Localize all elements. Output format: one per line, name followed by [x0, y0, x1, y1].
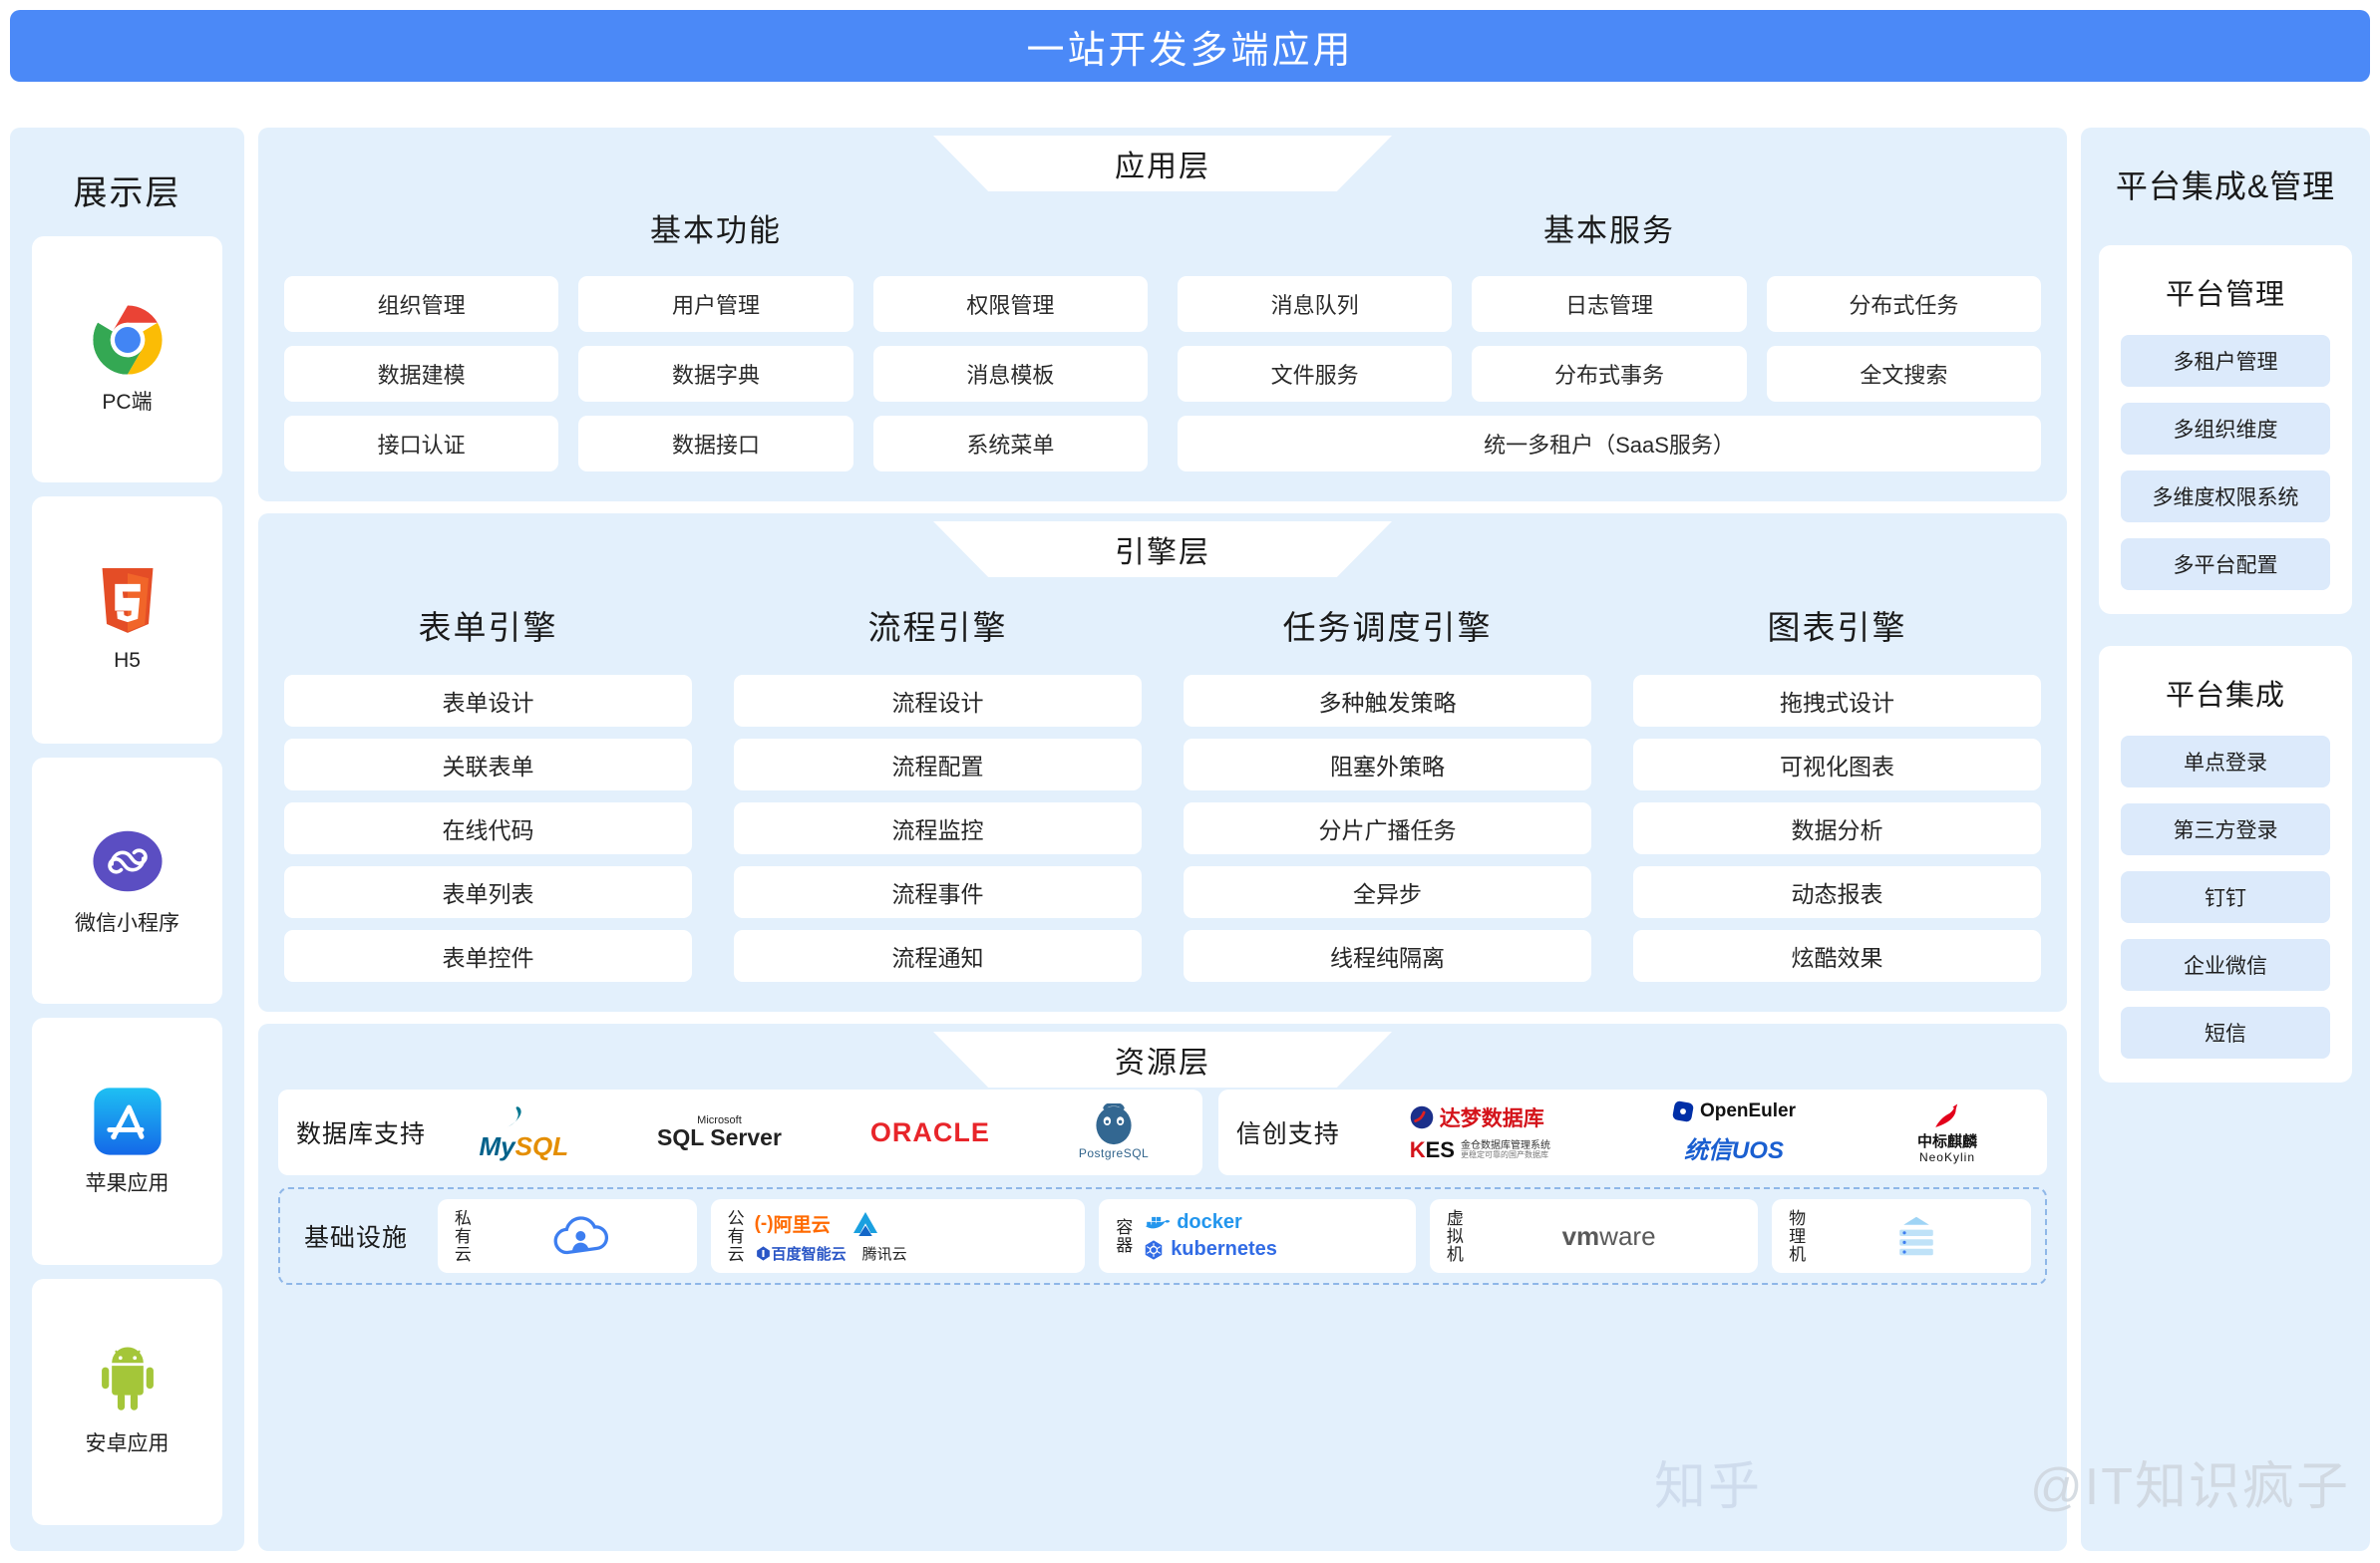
- platform-integration-item[interactable]: 企业微信: [2121, 939, 2330, 991]
- engine-item[interactable]: 流程事件: [734, 866, 1142, 918]
- private-cloud-card: 私有云: [438, 1199, 697, 1273]
- tencent-cloud-icon: [847, 1209, 884, 1239]
- process-engine-title: 流程引擎: [734, 601, 1142, 649]
- uniontech-uos-logo: 统信UOS: [1684, 1130, 1784, 1165]
- engine-item[interactable]: 分片广播任务: [1184, 802, 1591, 854]
- display-item-pc[interactable]: PC端: [32, 236, 222, 482]
- public-cloud-logos: (-)阿里云 百度智能云 腾讯云: [755, 1209, 1072, 1264]
- display-item-label: PC端: [102, 386, 152, 416]
- mysql-wordmark: MySQL: [480, 1131, 569, 1162]
- engine-item[interactable]: 可视化图表: [1633, 739, 2041, 790]
- public-cloud-card: 公有云 (-)阿里云 百度智能云: [711, 1199, 1086, 1273]
- engine-item[interactable]: 表单设计: [284, 675, 692, 727]
- server-icon: [1887, 1212, 1945, 1260]
- platform-integration-item[interactable]: 钉钉: [2121, 871, 2330, 923]
- feature-chip[interactable]: 系统菜单: [873, 416, 1148, 471]
- vmware-logo: vmware: [1562, 1221, 1656, 1252]
- platform-integration-item[interactable]: 单点登录: [2121, 736, 2330, 787]
- neokylin-en: NeoKylin: [1919, 1151, 1975, 1164]
- aliyun-wordmark: 阿里云: [774, 1210, 831, 1237]
- resource-layer-panel: 资源层 数据库支持 MySQL: [258, 1024, 2067, 1551]
- kes-tagline: 更稳定可靠的国产数据库: [1461, 1151, 1550, 1160]
- xinchuang-logo-row: 达梦数据库 KES 金仓数据库管理系统 更稳定可靠的国产数据库: [1358, 1100, 2029, 1165]
- feature-chip[interactable]: 数据字典: [578, 346, 852, 402]
- kingbase-kes-logo: KES 金仓数据库管理系统 更稳定可靠的国产数据库: [1410, 1138, 1550, 1161]
- basic-functions-grid: 组织管理 用户管理 权限管理 数据建模 数据字典 消息模板 接口认证 数据接口 …: [284, 276, 1148, 471]
- aliyun-logo: (-)阿里云: [755, 1210, 831, 1237]
- application-layer-body: 基本功能 组织管理 用户管理 权限管理 数据建模 数据字典 消息模板 接口认证 …: [258, 191, 2067, 501]
- engine-item[interactable]: 流程监控: [734, 802, 1142, 854]
- application-layer-panel: 应用层 基本功能 组织管理 用户管理 权限管理 数据建模 数据字典 消息模板: [258, 128, 2067, 501]
- database-support-label: 数据库支持: [296, 1114, 426, 1150]
- saas-multi-tenant-chip[interactable]: 统一多租户（SaaS服务）: [1178, 416, 2041, 471]
- basic-services-group: 基本服务 消息队列 日志管理 分布式任务 文件服务 分布式事务 全文搜索 统一多…: [1178, 195, 2041, 471]
- platform-management-item[interactable]: 多组织维度: [2121, 403, 2330, 455]
- display-layer-title: 展示层: [10, 128, 244, 232]
- task-scheduler-engine-column: 任务调度引擎 多种触发策略 阻塞外策略 分片广播任务 全异步 线程纯隔离: [1184, 583, 1591, 982]
- columns-container: 展示层 PC端: [10, 128, 2370, 1551]
- service-chip[interactable]: 分布式任务: [1767, 276, 2041, 332]
- service-chip[interactable]: 消息队列: [1178, 276, 1452, 332]
- engine-layer-tab: 引擎层: [933, 521, 1392, 577]
- android-icon: [92, 1346, 164, 1417]
- app-store-icon: [92, 1086, 164, 1157]
- process-engine-column: 流程引擎 流程设计 流程配置 流程监控 流程事件 流程通知: [734, 583, 1142, 982]
- dameng-wordmark: 达梦数据库: [1440, 1102, 1544, 1132]
- virtual-machine-card: 虚拟机 vmware: [1430, 1199, 1758, 1273]
- engine-item[interactable]: 表单列表: [284, 866, 692, 918]
- xinchuang-support-card: 信创支持 达梦数据库 KES: [1218, 1090, 2047, 1175]
- feature-chip[interactable]: 权限管理: [873, 276, 1148, 332]
- baidu-cloud-wordmark: 百度智能云: [772, 1243, 847, 1264]
- private-cloud-icon: [549, 1211, 615, 1261]
- page-title: 一站开发多端应用: [1026, 19, 1353, 74]
- neokylin-cn: 中标麒麟: [1917, 1134, 1977, 1151]
- platform-integration-card: 平台集成 单点登录 第三方登录 钉钉 企业微信 短信: [2099, 646, 2352, 1083]
- platform-management-card: 平台管理 多租户管理 多组织维度 多维度权限系统 多平台配置: [2099, 245, 2352, 614]
- architecture-diagram: 一站开发多端应用 展示层: [0, 0, 2380, 1563]
- form-engine-column: 表单引擎 表单设计 关联表单 在线代码 表单列表 表单控件: [284, 583, 692, 982]
- engine-item[interactable]: 动态报表: [1633, 866, 2041, 918]
- engine-item[interactable]: 多种触发策略: [1184, 675, 1591, 727]
- task-scheduler-engine-title: 任务调度引擎: [1184, 601, 1591, 649]
- platform-integration-title: 平台集成: [2121, 672, 2330, 714]
- form-engine-list: 表单设计 关联表单 在线代码 表单列表 表单控件: [284, 675, 692, 982]
- feature-chip[interactable]: 组织管理: [284, 276, 558, 332]
- service-chip[interactable]: 分布式事务: [1472, 346, 1746, 402]
- sqlserver-logo: Microsoft SQL Server: [657, 1115, 782, 1149]
- display-layer-panel: 展示层 PC端: [10, 128, 244, 1551]
- engine-layer-panel: 引擎层 表单引擎 表单设计 关联表单 在线代码 表单列表 表单控件: [258, 513, 2067, 1012]
- kylin-mascot-icon: [1929, 1100, 1965, 1132]
- engine-item[interactable]: 拖拽式设计: [1633, 675, 2041, 727]
- vmware-wordmark-tail: ware: [1599, 1221, 1655, 1251]
- chart-engine-title: 图表引擎: [1633, 601, 2041, 649]
- basic-services-grid: 消息队列 日志管理 分布式任务 文件服务 分布式事务 全文搜索 统一多租户（Sa…: [1178, 276, 2041, 471]
- kubernetes-logo: kubernetes: [1143, 1238, 1277, 1261]
- resource-layer-tab-label: 资源层: [1115, 1038, 1210, 1082]
- postgresql-wordmark: PostgreSQL: [1079, 1147, 1149, 1160]
- public-cloud-label: 公有云: [725, 1209, 743, 1263]
- display-item-wechat-mini[interactable]: 微信小程序: [32, 758, 222, 1004]
- virtual-machine-label: 虚拟机: [1444, 1209, 1462, 1263]
- engine-item[interactable]: 在线代码: [284, 802, 692, 854]
- platform-management-item[interactable]: 多租户管理: [2121, 335, 2330, 387]
- chart-engine-list: 拖拽式设计 可视化图表 数据分析 动态报表 炫酷效果: [1633, 675, 2041, 982]
- display-item-ios[interactable]: 苹果应用: [32, 1018, 222, 1264]
- display-item-label: 微信小程序: [75, 907, 179, 937]
- display-item-h5[interactable]: H5: [32, 496, 222, 743]
- resource-support-row: 数据库支持 MySQL Microsoft SQL Server: [278, 1090, 2047, 1175]
- container-logos: docker kubernetes: [1143, 1211, 1402, 1261]
- feature-chip[interactable]: 用户管理: [578, 276, 852, 332]
- engine-item[interactable]: 阻塞外策略: [1184, 739, 1591, 790]
- private-cloud-logos: [482, 1211, 683, 1261]
- tencent-cloud-wordmark: 腾讯云: [862, 1243, 907, 1264]
- display-item-label: H5: [114, 649, 141, 673]
- display-item-android[interactable]: 安卓应用: [32, 1279, 222, 1525]
- platform-integration-item[interactable]: 第三方登录: [2121, 803, 2330, 855]
- chart-engine-column: 图表引擎 拖拽式设计 可视化图表 数据分析 动态报表 炫酷效果: [1633, 583, 2041, 982]
- feature-chip[interactable]: 消息模板: [873, 346, 1148, 402]
- platform-management-item[interactable]: 多维度权限系统: [2121, 470, 2330, 522]
- platform-panel: 平台集成&管理 平台管理 多租户管理 多组织维度 多维度权限系统 多平台配置 平…: [2081, 128, 2370, 1551]
- postgresql-logo: PostgreSQL: [1079, 1103, 1149, 1160]
- engine-item[interactable]: 流程配置: [734, 739, 1142, 790]
- engine-item[interactable]: 流程通知: [734, 930, 1142, 982]
- resource-layer-tab-wrap: 资源层: [258, 1032, 2067, 1088]
- infrastructure-label: 基础设施: [294, 1218, 424, 1254]
- engine-item[interactable]: 数据分析: [1633, 802, 2041, 854]
- docker-wordmark: docker: [1177, 1211, 1242, 1234]
- database-logo-row: MySQL Microsoft SQL Server ORACLE: [444, 1103, 1185, 1162]
- docker-logo: docker: [1143, 1211, 1242, 1234]
- engine-item[interactable]: 关联表单: [284, 739, 692, 790]
- feature-chip[interactable]: 数据建模: [284, 346, 558, 402]
- kubernetes-wordmark: kubernetes: [1171, 1238, 1277, 1261]
- basic-functions-group: 基本功能 组织管理 用户管理 权限管理 数据建模 数据字典 消息模板 接口认证 …: [284, 195, 1148, 471]
- physical-machine-card: 物理机: [1772, 1199, 2031, 1273]
- baidu-cloud-logo: 百度智能云: [755, 1243, 847, 1264]
- private-cloud-label: 私有云: [452, 1209, 470, 1263]
- platform-management-item[interactable]: 多平台配置: [2121, 538, 2330, 590]
- container-card: 容器 docker kubernetes: [1099, 1199, 1416, 1273]
- engine-layer-tab-wrap: 引擎层: [258, 521, 2067, 577]
- task-scheduler-engine-list: 多种触发策略 阻塞外策略 分片广播任务 全异步 线程纯隔离: [1184, 675, 1591, 982]
- resource-layer-tab: 资源层: [933, 1032, 1392, 1088]
- engine-layer-body: 表单引擎 表单设计 关联表单 在线代码 表单列表 表单控件 流程引擎 流程设计: [258, 577, 2067, 1012]
- service-chip[interactable]: 日志管理: [1472, 276, 1746, 332]
- html5-icon: [92, 567, 164, 639]
- service-chip[interactable]: 文件服务: [1178, 346, 1452, 402]
- platform-panel-title: 平台集成&管理: [2081, 128, 2370, 229]
- infrastructure-row: 基础设施 私有云 公: [278, 1187, 2047, 1285]
- platform-management-title: 平台管理: [2121, 271, 2330, 313]
- zhihu-watermark: 知乎: [1654, 1444, 1762, 1519]
- database-support-card: 数据库支持 MySQL Microsoft SQL Server: [278, 1090, 1202, 1175]
- application-layer-tab: 应用层: [933, 136, 1392, 191]
- engine-item[interactable]: 全异步: [1184, 866, 1591, 918]
- engine-item[interactable]: 炫酷效果: [1633, 930, 2041, 982]
- feature-chip[interactable]: 数据接口: [578, 416, 852, 471]
- basic-functions-title: 基本功能: [284, 205, 1148, 250]
- application-layer-tab-wrap: 应用层: [258, 136, 2067, 191]
- display-layer-items: PC端 H5: [10, 232, 244, 1551]
- engine-item[interactable]: 线程纯隔离: [1184, 930, 1591, 982]
- physical-machine-label: 物理机: [1786, 1209, 1804, 1263]
- container-label: 容器: [1113, 1218, 1131, 1254]
- neokylin-logo: 中标麒麟 NeoKylin: [1917, 1134, 1977, 1164]
- page-title-bar: 一站开发多端应用: [10, 10, 2370, 82]
- physical-machine-logos: [1816, 1212, 2017, 1260]
- vm-logos: vmware: [1474, 1221, 1744, 1252]
- display-item-label: 安卓应用: [86, 1427, 170, 1457]
- basic-services-title: 基本服务: [1178, 205, 2041, 250]
- dameng-logo: 达梦数据库: [1410, 1102, 1544, 1132]
- mysql-logo: MySQL: [480, 1103, 569, 1162]
- service-chip[interactable]: 全文搜索: [1767, 346, 2041, 402]
- engine-item[interactable]: 表单控件: [284, 930, 692, 982]
- kes-wordmark: KES: [1410, 1138, 1455, 1161]
- engine-layer-tab-label: 引擎层: [1115, 527, 1210, 571]
- main-layers-column: 应用层 基本功能 组织管理 用户管理 权限管理 数据建模 数据字典 消息模板: [258, 128, 2067, 1551]
- openeuler-wordmark: OpenEuler: [1700, 1100, 1796, 1122]
- wechat-miniprogram-icon: [92, 825, 164, 897]
- openeuler-logo: OpenEuler: [1672, 1100, 1796, 1122]
- form-engine-title: 表单引擎: [284, 601, 692, 649]
- engine-item[interactable]: 流程设计: [734, 675, 1142, 727]
- application-layer-tab-label: 应用层: [1115, 142, 1210, 185]
- feature-chip[interactable]: 接口认证: [284, 416, 558, 471]
- display-item-label: 苹果应用: [86, 1167, 170, 1197]
- chrome-icon: [92, 304, 164, 376]
- process-engine-list: 流程设计 流程配置 流程监控 流程事件 流程通知: [734, 675, 1142, 982]
- oracle-logo: ORACLE: [870, 1117, 990, 1148]
- platform-integration-item[interactable]: 短信: [2121, 1007, 2330, 1059]
- sqlserver-wordmark: SQL Server: [657, 1126, 782, 1149]
- xinchuang-support-label: 信创支持: [1236, 1114, 1340, 1150]
- resource-layer-body: 数据库支持 MySQL Microsoft SQL Server: [258, 1088, 2067, 1303]
